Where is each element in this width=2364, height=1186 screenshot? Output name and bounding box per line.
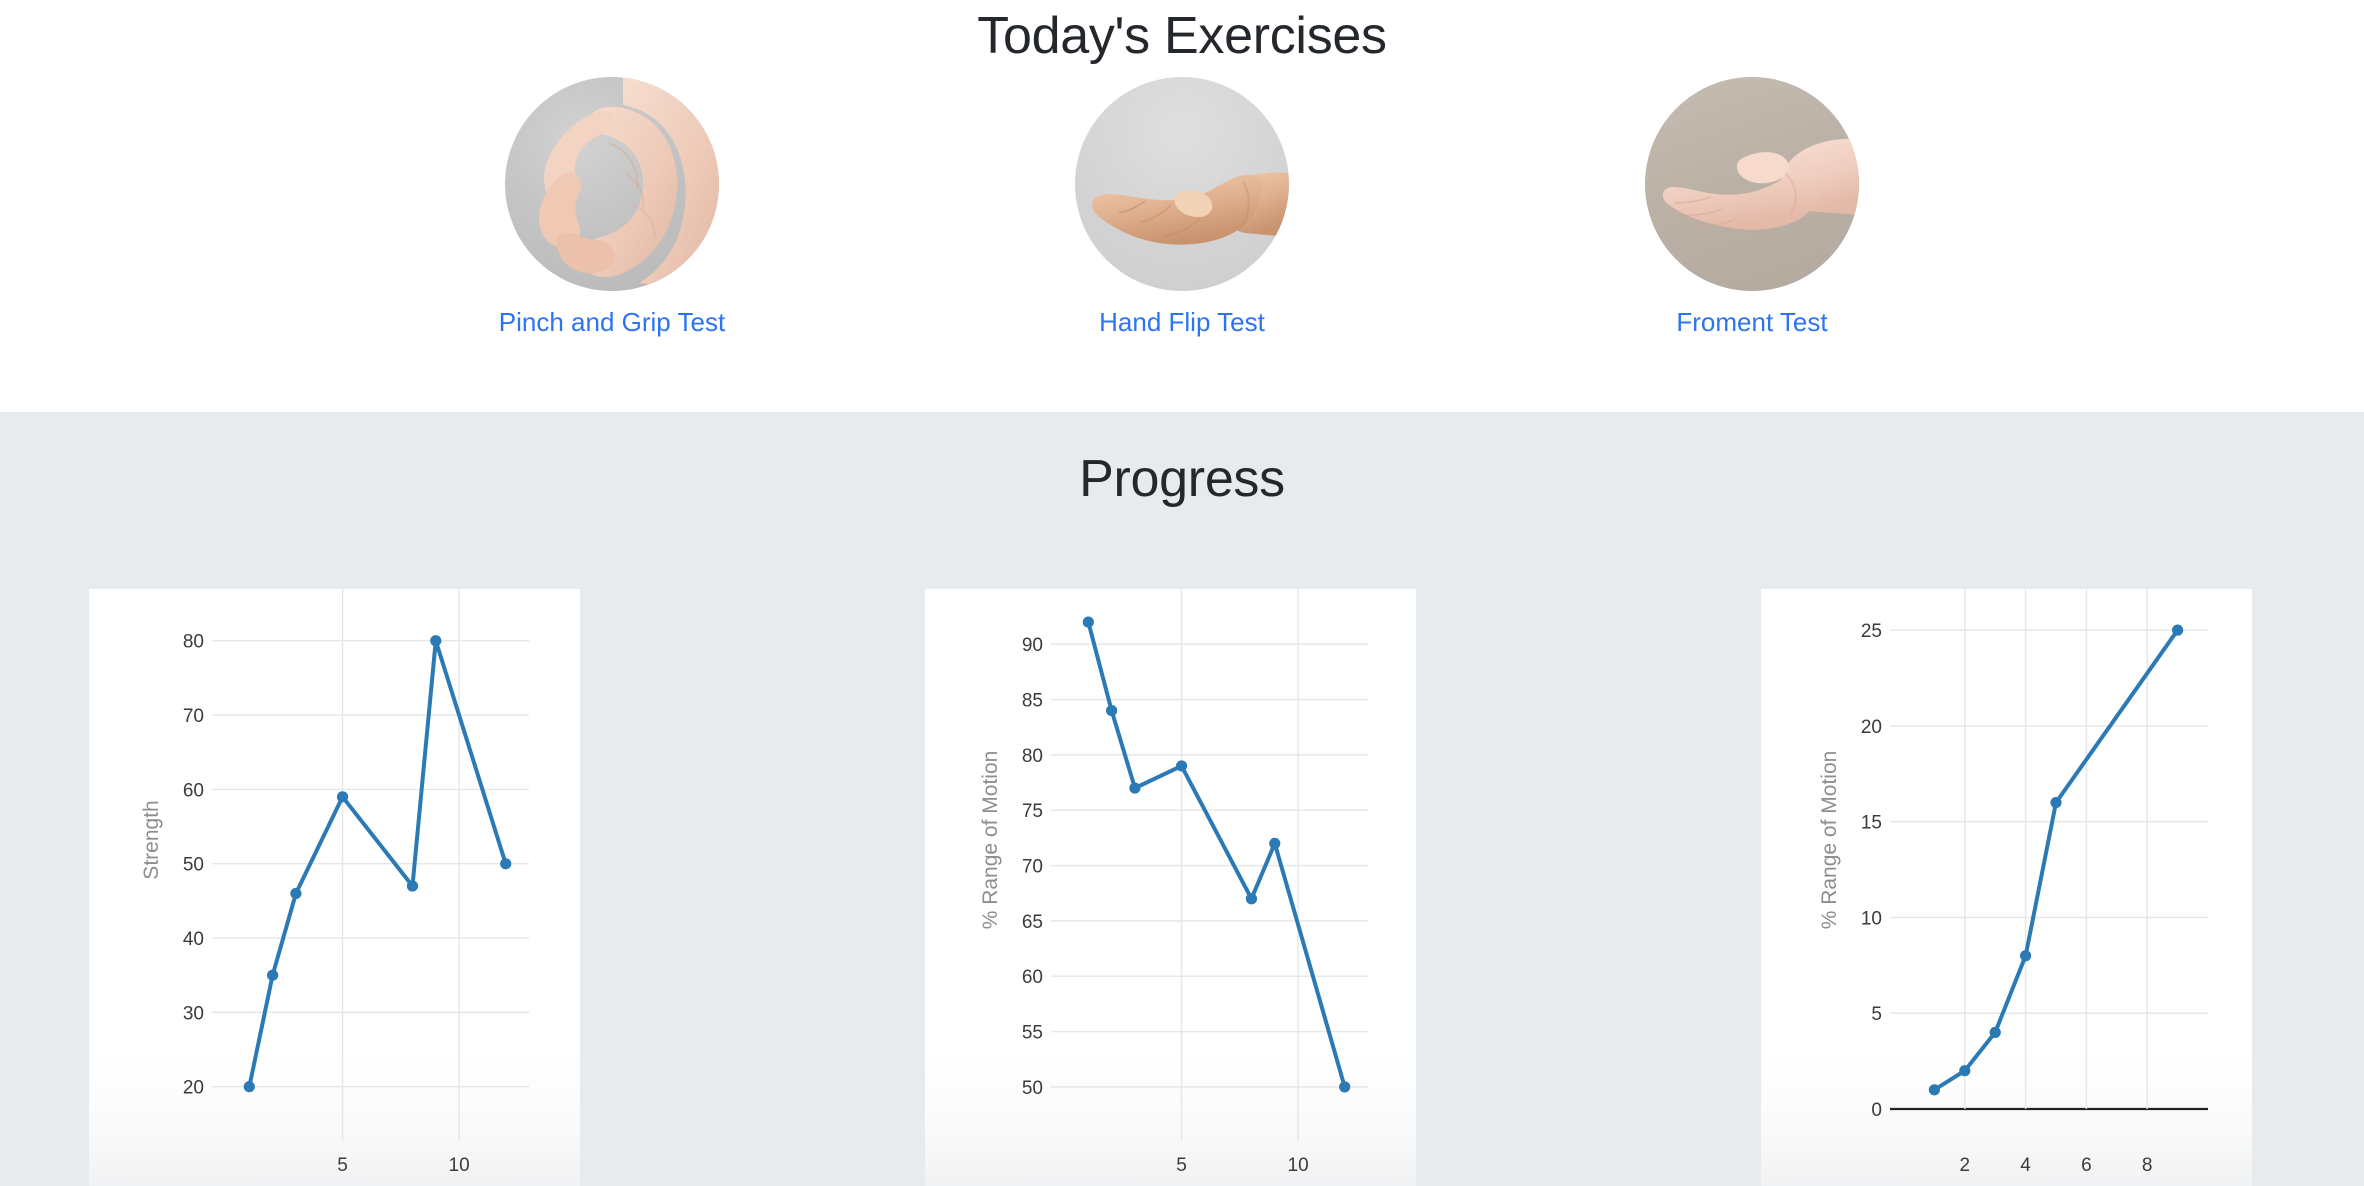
hand-flip-hand-photo-icon[interactable] xyxy=(1075,77,1289,291)
progress-title: Progress xyxy=(0,412,2364,510)
svg-text:80: 80 xyxy=(183,632,204,653)
svg-text:40: 40 xyxy=(183,929,204,950)
froment-hand-photo-icon[interactable] xyxy=(1645,77,1859,291)
exercise-label[interactable]: Pinch and Grip Test xyxy=(499,307,725,338)
svg-text:80: 80 xyxy=(1022,746,1043,767)
svg-text:8: 8 xyxy=(2142,1155,2153,1176)
range-of-motion-line-chart-1[interactable]: 505560657075808590510% Range of Motion xyxy=(925,589,1416,1186)
exercise-item-froment-test[interactable]: Froment Test xyxy=(1467,77,2037,338)
page-title: Today's Exercises xyxy=(0,0,2364,67)
svg-text:5: 5 xyxy=(1176,1155,1187,1176)
svg-text:60: 60 xyxy=(1022,967,1043,988)
svg-text:60: 60 xyxy=(183,780,204,801)
progress-section: Progress 20304050607080510Strength 50556… xyxy=(0,412,2364,1186)
exercise-item-hand-flip-test[interactable]: Hand Flip Test xyxy=(897,77,1467,338)
svg-text:50: 50 xyxy=(183,855,204,876)
svg-text:% Range of Motion: % Range of Motion xyxy=(979,751,1002,930)
strength-line-chart[interactable]: 20304050607080510Strength xyxy=(89,589,580,1186)
svg-text:25: 25 xyxy=(1861,621,1882,642)
exercise-label[interactable]: Hand Flip Test xyxy=(1099,307,1265,338)
svg-text:10: 10 xyxy=(1861,908,1882,929)
svg-text:20: 20 xyxy=(183,1078,204,1099)
svg-text:20: 20 xyxy=(1861,717,1882,738)
progress-charts-row: 20304050607080510Strength 50556065707580… xyxy=(0,589,2364,1186)
range-of-motion-line-chart-2[interactable]: 05101520252468% Range of Motion xyxy=(1761,589,2252,1186)
svg-text:5: 5 xyxy=(337,1155,348,1176)
svg-text:6: 6 xyxy=(2081,1155,2092,1176)
svg-text:75: 75 xyxy=(1022,801,1043,822)
svg-text:10: 10 xyxy=(1288,1155,1309,1176)
svg-text:65: 65 xyxy=(1022,912,1043,933)
chart-card-range-of-motion-2[interactable]: 05101520252468% Range of Motion xyxy=(1761,589,2252,1186)
exercise-label[interactable]: Froment Test xyxy=(1676,307,1827,338)
svg-text:90: 90 xyxy=(1022,635,1043,656)
exercise-list: Pinch and Grip Test xyxy=(0,77,2364,338)
svg-text:0: 0 xyxy=(1871,1100,1882,1121)
svg-text:% Range of Motion: % Range of Motion xyxy=(1818,751,1841,930)
svg-text:85: 85 xyxy=(1022,691,1043,712)
svg-text:2: 2 xyxy=(1960,1155,1971,1176)
svg-text:5: 5 xyxy=(1871,1004,1882,1025)
chart-card-range-of-motion-1[interactable]: 505560657075808590510% Range of Motion xyxy=(925,589,1416,1186)
svg-text:10: 10 xyxy=(449,1155,470,1176)
svg-text:30: 30 xyxy=(183,1003,204,1024)
svg-text:Strength: Strength xyxy=(140,800,163,879)
svg-text:15: 15 xyxy=(1861,813,1882,834)
svg-text:70: 70 xyxy=(1022,857,1043,878)
pinch-grip-hand-photo-icon[interactable] xyxy=(505,77,719,291)
chart-card-strength[interactable]: 20304050607080510Strength xyxy=(89,589,580,1186)
svg-text:55: 55 xyxy=(1022,1023,1043,1044)
svg-text:50: 50 xyxy=(1022,1078,1043,1099)
todays-exercises-section: Today's Exercises xyxy=(0,0,2364,412)
svg-text:70: 70 xyxy=(183,706,204,727)
svg-text:4: 4 xyxy=(2020,1155,2031,1176)
exercise-item-pinch-and-grip-test[interactable]: Pinch and Grip Test xyxy=(327,77,897,338)
